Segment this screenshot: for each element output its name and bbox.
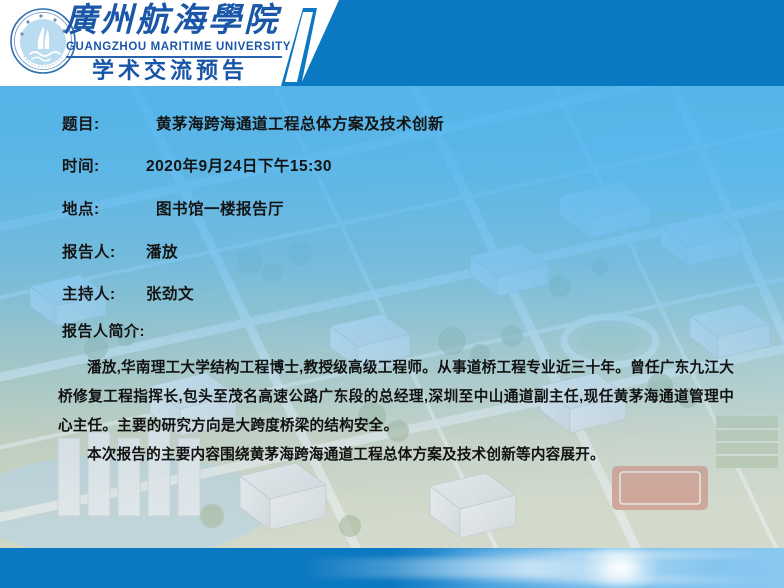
info-row: 地点:图书馆一楼报告厅 [62, 197, 284, 219]
info-row: 题目:黄茅海跨海通道工程总体方案及技术创新 [62, 112, 444, 134]
footer-band [0, 548, 784, 588]
footer-light-burst [470, 548, 770, 588]
info-value-speaker: 潘放 [146, 244, 178, 261]
info-label-location: 地点: [62, 197, 146, 219]
info-value-time: 2020年9月24日下午15:30 [146, 158, 332, 175]
info-value-location: 图书馆一楼报告厅 [146, 201, 284, 218]
info-row: 报告人:潘放 [62, 240, 178, 262]
announcement-slide: 廣州航海學院 GUANGZHOU MARITIME UNIVERSITY 学术交… [0, 0, 784, 588]
info-row: 时间:2020年9月24日下午15:30 [62, 154, 332, 176]
info-row: 主持人:张劲文 [62, 282, 194, 304]
info-label-host: 主持人: [62, 282, 146, 304]
info-label-speaker: 报告人: [62, 240, 146, 262]
header-banner: 廣州航海學院 GUANGZHOU MARITIME UNIVERSITY 学术交… [0, 0, 784, 86]
announcement-content: 题目:黄茅海跨海通道工程总体方案及技术创新 时间:2020年9月24日下午15:… [0, 86, 784, 548]
speaker-bio-paragraph-2: 本次报告的主要内容围绕黄茅海跨海通道工程总体方案及技术创新等内容展开。 [58, 441, 734, 470]
info-value-title: 黄茅海跨海通道工程总体方案及技术创新 [146, 116, 444, 133]
info-label-time: 时间: [62, 154, 146, 176]
speaker-bio-heading: 报告人简介: [62, 320, 145, 341]
header-subtitle: 学术交流预告 [92, 58, 248, 84]
university-name-english: GUANGZHOU MARITIME UNIVERSITY [66, 41, 291, 53]
university-name-chinese: 廣州航海學院 [64, 2, 280, 40]
info-value-host: 张劲文 [146, 286, 194, 303]
info-label-title: 题目: [62, 112, 146, 134]
speaker-bio-paragraph-1: 潘放,华南理工大学结构工程博士,教授级高级工程师。从事道桥工程专业近三十年。曾任… [58, 354, 734, 441]
